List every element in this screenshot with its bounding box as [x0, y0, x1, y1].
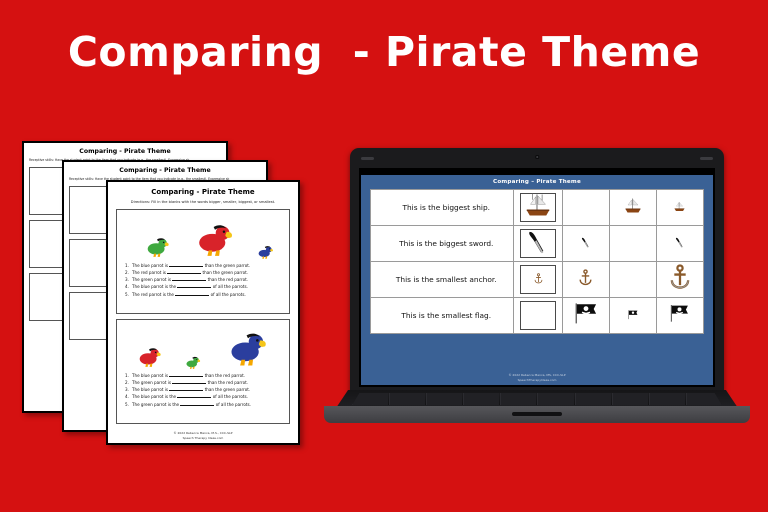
laptop-lid: Comparing – Pirate Theme This is the big… [350, 148, 724, 394]
worksheet-footer: © 2022 Rebecca Manca, M.S., CCC-SLP Spee… [108, 431, 298, 440]
worksheet-website: Speech Therapy Ideas.com [108, 436, 298, 441]
option-cell[interactable] [562, 226, 609, 262]
sword-icon [525, 228, 551, 254]
key-column [612, 393, 648, 405]
worksheet-section-2: 1.The blue parrot is than the red parrot… [116, 319, 290, 424]
slide-website: SpeechTherapyIdeas.com [361, 378, 713, 383]
sword-icon [674, 236, 686, 248]
answer-blank[interactable] [172, 383, 206, 384]
question-item: 1.The blue parrot is than the red parrot… [121, 372, 285, 379]
laptop-mockup: Comparing – Pirate Theme This is the big… [322, 140, 752, 430]
answer-cell[interactable] [514, 298, 562, 334]
option-cell[interactable] [656, 226, 703, 262]
laptop-latch-notch [512, 412, 562, 416]
comparison-table: This is the biggest ship. [370, 189, 704, 334]
parrot-illustration-row-2 [121, 324, 285, 372]
parrot-illustration-row-1 [121, 214, 285, 262]
answer-blank[interactable] [177, 287, 211, 288]
row-prompt: This is the biggest sword. [371, 226, 514, 262]
key-column [500, 393, 536, 405]
worksheet-stack: Comparing - Pirate Theme Receptive skill… [0, 0, 330, 512]
question-list-1: 1.The blue parrot is than the green parr… [121, 262, 285, 298]
option-cell[interactable] [656, 190, 703, 226]
key-column [537, 393, 573, 405]
key-column [463, 393, 499, 405]
slide-footer: © 2022 Rebecca Manca, MS, CCC-SLP Speech… [361, 373, 713, 382]
option-cell[interactable] [609, 298, 656, 334]
option-cell[interactable] [656, 262, 703, 298]
question-item: 3.The blue parrot is than the green parr… [121, 386, 285, 393]
answer-cell[interactable] [514, 226, 562, 262]
parrot-red-icon [135, 342, 165, 372]
question-item: 4.The blue parrot is the of all the parr… [121, 393, 285, 400]
parrot-blue-icon [255, 241, 276, 262]
lid-vent-right [700, 157, 713, 160]
answer-box[interactable] [520, 301, 555, 330]
presentation-slide[interactable]: Comparing – Pirate Theme This is the big… [361, 175, 713, 385]
flag-icon [572, 301, 600, 325]
key-column [649, 393, 685, 405]
webcam-icon [535, 155, 539, 159]
row-prompt: This is the smallest anchor. [371, 262, 514, 298]
flag-icon [627, 309, 639, 320]
ship-icon [673, 201, 686, 212]
answer-blank[interactable] [167, 273, 201, 274]
anchor-icon [577, 269, 594, 286]
question-list-2: 1.The blue parrot is than the red parrot… [121, 372, 285, 408]
answer-blank[interactable] [169, 266, 203, 267]
answer-cell[interactable] [514, 190, 562, 226]
slide-title: Comparing – Pirate Theme [370, 179, 704, 185]
option-cell[interactable] [609, 190, 656, 226]
sword-icon [580, 236, 592, 248]
answer-cell[interactable] [514, 262, 562, 298]
key-column [389, 393, 425, 405]
question-item: 2.The red parrot is than the green parro… [121, 269, 285, 276]
table-row[interactable]: This is the biggest ship. [371, 190, 704, 226]
question-item: 1.The blue parrot is than the green parr… [121, 262, 285, 269]
table-row[interactable]: This is the biggest sword. [371, 226, 704, 262]
worksheet-directions: Directions: Fill in the blanks with the … [108, 200, 298, 204]
lid-vent-left [361, 157, 374, 160]
option-cell[interactable] [562, 190, 609, 226]
question-item: 5.The red parrot is the of all the parro… [121, 291, 285, 298]
question-item: 3.The green parrot is than the red parro… [121, 276, 285, 283]
question-item: 5.The green parrot is the of all the par… [121, 401, 285, 408]
ship-icon [523, 192, 553, 218]
parrot-green-icon [183, 352, 203, 372]
laptop-screen: Comparing – Pirate Theme This is the big… [359, 168, 715, 387]
worksheet-front-title: Comparing - Pirate Theme [108, 188, 298, 196]
question-item: 2.The green parrot is than the red parro… [121, 379, 285, 386]
table-row[interactable]: This is the smallest anchor. [371, 262, 704, 298]
answer-blank[interactable] [169, 390, 203, 391]
worksheet-section-1: 1.The blue parrot is than the green parr… [116, 209, 290, 314]
laptop-keyboard[interactable] [352, 393, 722, 405]
answer-blank[interactable] [175, 295, 209, 296]
parrot-blue-icon [225, 326, 271, 372]
key-column [575, 393, 611, 405]
anchor-icon [667, 264, 693, 290]
question-item: 4.The blue parrot is the of all the parr… [121, 283, 285, 290]
option-cell[interactable] [609, 262, 656, 298]
option-cell[interactable] [562, 298, 609, 334]
ship-icon [623, 197, 643, 214]
answer-blank[interactable] [172, 280, 206, 281]
option-cell[interactable] [562, 262, 609, 298]
flag-icon [668, 303, 691, 323]
worksheet-mid-title: Comparing - Pirate Theme [64, 167, 266, 174]
answer-blank[interactable] [169, 376, 203, 377]
row-prompt: This is the biggest ship. [371, 190, 514, 226]
option-cell[interactable] [609, 226, 656, 262]
option-cell[interactable] [656, 298, 703, 334]
table-row[interactable]: This is the smallest flag. [371, 298, 704, 334]
key-column [426, 393, 462, 405]
parrot-green-icon [143, 232, 173, 262]
worksheet-back-title: Comparing - Pirate Theme [24, 148, 226, 155]
parrot-red-icon [193, 218, 237, 262]
row-prompt: This is the smallest flag. [371, 298, 514, 334]
answer-blank[interactable] [177, 397, 211, 398]
answer-blank[interactable] [180, 405, 214, 406]
anchor-icon [533, 273, 544, 284]
worksheet-page-front[interactable]: Comparing - Pirate Theme Directions: Fil… [106, 180, 300, 445]
